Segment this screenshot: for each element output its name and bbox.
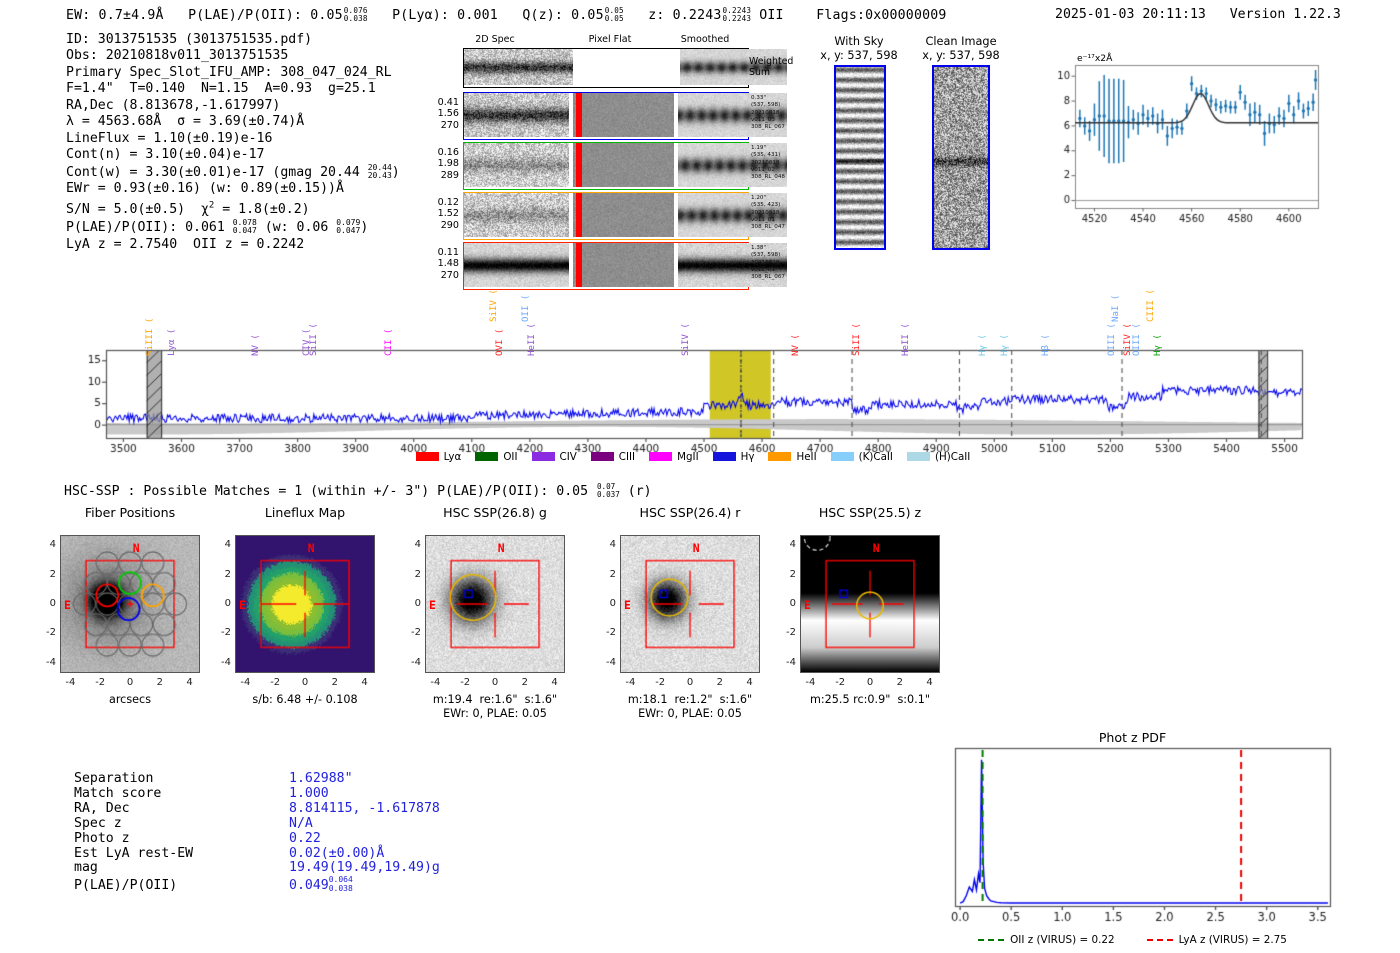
- match-value-1: 1.000: [289, 786, 329, 801]
- panel-xtick: 4: [922, 677, 938, 688]
- panel-image-z[interactable]: [800, 535, 940, 673]
- legend-label-0: Lyα: [444, 451, 462, 463]
- legend-item-1: OII: [475, 451, 517, 463]
- photz-legend: OII z (VIRUS) = 0.22LyA z (VIRUS) = 2.75: [925, 926, 1340, 946]
- legend-item-0: Lyα: [416, 451, 462, 463]
- header-z-value: 0.2243: [673, 8, 722, 23]
- flat-redbar-1: [576, 143, 582, 187]
- compass-north-label: N: [133, 541, 140, 555]
- emission-line-label-12: SiII (: [852, 323, 862, 356]
- panel-image-r[interactable]: [620, 535, 760, 673]
- info-plae-bounds: 0.0780.047: [233, 219, 257, 236]
- compass-east-label: E: [804, 598, 811, 612]
- info-id: ID: 3013751535 (3013751535.pdf): [66, 32, 312, 47]
- info-plae: P(LAE)/P(OII): 0.061 0.0780.047 (w: 0.06…: [66, 220, 368, 235]
- spectrum-legend: LyαOIICIVCIIIMgIIHγHeII(K)CaII(H)CaII: [0, 446, 1400, 465]
- panel-xlabel: arcsecs: [60, 693, 200, 707]
- emission-line-label-18: NaI (: [1111, 295, 1121, 322]
- panel-xtick: -2: [457, 677, 473, 688]
- photz-legend-item-1: LyA z (VIRUS) = 2.75: [1147, 934, 1287, 946]
- legend-label-1: OII: [503, 451, 517, 463]
- spec2d-montage: 2D Spec Pixel Flat Smoothed Weighted Sum…: [425, 34, 785, 259]
- panel-ytick: -4: [778, 657, 796, 668]
- legend-item-6: HeII: [768, 451, 816, 463]
- header-qz-value: 0.05: [571, 8, 604, 23]
- match-properties-table: Separation1.62988"Match score1.000RA, De…: [74, 772, 440, 893]
- info-redshifts: LyA z = 2.7540 OII z = 0.2242: [66, 237, 304, 252]
- match-key-6: mag: [74, 861, 289, 876]
- legend-label-6: HeII: [796, 451, 816, 463]
- emission-line-label-20: OIII (: [1132, 323, 1142, 356]
- header-summary-line: EW: 0.7±4.9Å P(LAE)/P(OII): 0.050.0760.0…: [66, 7, 947, 23]
- legend-label-2: CIV: [560, 451, 577, 463]
- panel-ytick: -4: [403, 657, 421, 668]
- legend-swatch-1: [475, 452, 498, 461]
- panel-image-fibers[interactable]: [60, 535, 200, 673]
- panel-stats-line1: m:18.1 re:1.2" s:1.6": [602, 693, 778, 707]
- photz-legend-label-0: OII z (VIRUS) = 0.22: [1010, 934, 1115, 946]
- imaging-panels-row: Fiber Positions-4-4-2-2002244arcsecsNELi…: [0, 505, 1400, 730]
- info-lineflux: LineFlux = 1.10(±0.19)e-16: [66, 131, 272, 146]
- stripe-meta-1: 1.19" (535, 431) 20210818 v011_02 308_RL…: [751, 145, 785, 181]
- header-qz-label: Q(z):: [522, 8, 563, 23]
- header-plae-value: 0.05: [310, 8, 343, 23]
- legend-label-5: Hγ: [741, 451, 755, 463]
- panel-xtick: 4: [742, 677, 758, 688]
- legend-swatch-8: [907, 452, 930, 461]
- panel-ytick: 4: [38, 539, 56, 550]
- panel-xtick: 0: [487, 677, 503, 688]
- photz-legend-swatch-1: [1147, 939, 1173, 941]
- detection-info-block: ID: 3013751535 (3013751535.pdf) Obs: 202…: [66, 32, 400, 253]
- col-title-smoothed: Smoothed: [650, 34, 760, 45]
- legend-swatch-7: [831, 452, 854, 461]
- full-spectrum-panel: SiIII (Lyα (NV (SiII (CIV (CII (OVI (SiI…: [0, 268, 1400, 468]
- match-key-4: Photo z: [74, 832, 289, 847]
- line-fit-chart: e⁻¹⁷x2Å: [1035, 40, 1325, 255]
- panel-ytick: -4: [38, 657, 56, 668]
- header-datetime: 2025-01-03 20:11:13: [1055, 7, 1206, 22]
- info-plae-w-bounds: 0.0790.047: [336, 219, 360, 236]
- panel-image-g[interactable]: [425, 535, 565, 673]
- match-row-6: mag19.49(19.49,19.49)g: [74, 861, 440, 876]
- emission-line-label-6: OVI (: [495, 329, 505, 356]
- panel-ytick: 2: [213, 569, 231, 580]
- emission-line-label-5: CII (: [384, 329, 394, 356]
- weighted-sum-row: [463, 48, 749, 88]
- spec2d-stripe-0: [463, 92, 749, 140]
- legend-item-2: CIV: [532, 451, 577, 463]
- emission-line-label-1: Lyα (: [167, 329, 177, 356]
- panel-ytick: -2: [403, 627, 421, 638]
- photz-legend-item-0: OII z (VIRUS) = 0.22: [978, 934, 1115, 946]
- emission-line-label-7: SiIV (: [489, 289, 499, 322]
- panel-ytick: -4: [598, 657, 616, 668]
- match-key-2: RA, Dec: [74, 802, 289, 817]
- header-version: Version 1.22.3: [1230, 7, 1341, 22]
- panel-xtick: 2: [327, 677, 343, 688]
- panel-title-fibers: Fiber Positions: [46, 505, 214, 520]
- panel-ytick: 0: [38, 598, 56, 609]
- panel-ytick: 0: [213, 598, 231, 609]
- photz-legend-swatch-0: [978, 939, 1004, 941]
- emission-line-label-11: NV (: [791, 334, 801, 356]
- emission-line-label-10: SiIV (: [681, 323, 691, 356]
- match-row-1: Match score1.000: [74, 787, 440, 802]
- panel-xtick: -2: [652, 677, 668, 688]
- legend-label-3: CIII: [619, 451, 635, 463]
- compass-east-label: E: [624, 598, 631, 612]
- panel-ytick: 2: [778, 569, 796, 580]
- with-sky-image: [834, 65, 886, 250]
- header-plya: P(Lyα): 0.001: [392, 8, 498, 23]
- stripe-values-0: 0.41 1.56 270: [423, 97, 459, 131]
- match-value-5: 0.02(±0.00)Å: [289, 846, 384, 861]
- panel-xtick: 0: [122, 677, 138, 688]
- panel-ytick: -4: [213, 657, 231, 668]
- info-obs: Obs: 20210818v011_3013751535: [66, 48, 288, 63]
- legend-item-5: Hγ: [713, 451, 755, 463]
- match-row-5: Est LyA rest-EW0.02(±0.00)Å: [74, 847, 440, 862]
- emission-line-label-8: OII (: [521, 295, 531, 322]
- panel-ytick: -2: [213, 627, 231, 638]
- panel-title-z: HSC SSP(25.5) z: [786, 505, 954, 520]
- hscssp-header: HSC-SSP : Possible Matches = 1 (within +…: [64, 483, 652, 499]
- panel-xtick: 0: [682, 677, 698, 688]
- compass-north-label: N: [498, 541, 505, 555]
- stripe-values-1: 0.16 1.98 289: [423, 147, 459, 181]
- match-row-2: RA, Dec8.814115, -1.617878: [74, 802, 440, 817]
- hscssp-plae-bounds: 0.070.037: [597, 483, 620, 499]
- panel-ytick: 4: [403, 539, 421, 550]
- info-ewr: EWr = 0.93(±0.16) (w: 0.89(±0.15))Å: [66, 181, 344, 196]
- match-value-7: 0.0490.0640.038: [289, 878, 353, 893]
- linefit-yunit-label: e⁻¹⁷x2Å: [1077, 53, 1112, 64]
- header-plae-label: P(LAE)/P(OII):: [188, 8, 302, 23]
- stripe-meta-2: 1.20" (535, 423) 20210818 v011_01 308_RL…: [751, 195, 785, 231]
- panel-xtick: -4: [427, 677, 443, 688]
- info-gmag-bounds: 20.4420.43: [368, 164, 392, 181]
- panel-xtick: -4: [622, 677, 638, 688]
- match-value-0: 1.62988": [289, 771, 353, 786]
- emission-line-label-15: Hγ (: [1000, 334, 1010, 356]
- emission-line-label-16: Hβ (: [1041, 334, 1051, 356]
- emission-line-label-4: CIV (: [302, 329, 312, 356]
- info-cont-w: Cont(w) = 3.30(±0.01)e-17 (gmag 20.44 20…: [66, 165, 400, 180]
- compass-east-label: E: [64, 598, 71, 612]
- legend-swatch-0: [416, 452, 439, 461]
- legend-item-8: (H)CaII: [907, 451, 970, 463]
- weighted-sum-label: Weighted Sum: [749, 56, 793, 78]
- legend-label-4: MgII: [677, 451, 699, 463]
- info-snr: S/N = 5.0(±0.5) χ2 = 1.8(±0.2): [66, 202, 310, 217]
- header-flags: Flags:0x00000009: [816, 8, 946, 23]
- legend-label-8: (H)CaII: [935, 451, 970, 463]
- panel-xtick: -2: [92, 677, 108, 688]
- emission-line-label-22: Hγ (: [1153, 334, 1163, 356]
- panel-ytick: 2: [38, 569, 56, 580]
- match-value-2: 8.814115, -1.617878: [289, 801, 440, 816]
- clean-image: [932, 65, 990, 250]
- panel-xtick: 4: [547, 677, 563, 688]
- match-key-1: Match score: [74, 787, 289, 802]
- panel-ytick: 0: [403, 598, 421, 609]
- info-cont-n: Cont(n) = 3.10(±0.04)e-17: [66, 147, 265, 162]
- panel-stats-line2: EWr: 0, PLAE: 0.05: [407, 707, 583, 721]
- header-z-bounds: 0.22430.2243: [723, 7, 752, 23]
- panel-xtick: -4: [62, 677, 78, 688]
- header-plae-bounds: 0.0760.038: [344, 7, 368, 23]
- legend-swatch-3: [591, 452, 614, 461]
- panel-title-r: HSC SSP(26.4) r: [606, 505, 774, 520]
- panel-stats-line1: m:25.5 rc:0.9" s:0.1": [782, 693, 958, 707]
- legend-item-3: CIII: [591, 451, 635, 463]
- panel-ytick: 4: [598, 539, 616, 550]
- panel-xtick: 2: [712, 677, 728, 688]
- stripe-values-2: 0.12 1.52 290: [423, 197, 459, 231]
- emission-line-label-9: HeII (: [527, 323, 537, 356]
- header-z-type: OII: [759, 8, 783, 23]
- compass-north-label: N: [308, 541, 315, 555]
- match-value-4: 0.22: [289, 831, 321, 846]
- panel-xtick: 0: [297, 677, 313, 688]
- panel-xtick: 2: [152, 677, 168, 688]
- compass-north-label: N: [693, 541, 700, 555]
- match-key-0: Separation: [74, 772, 289, 787]
- match-row-7: P(LAE)/P(OII)0.0490.0640.038: [74, 876, 440, 893]
- legend-swatch-6: [768, 452, 791, 461]
- match-row-3: Spec zN/A: [74, 817, 440, 832]
- match-key-3: Spec z: [74, 817, 289, 832]
- header-z-label: z:: [648, 8, 664, 23]
- panel-xtick: -4: [802, 677, 818, 688]
- compass-east-label: E: [239, 598, 246, 612]
- panel-xtick: -2: [832, 677, 848, 688]
- photz-legend-label-1: LyA z (VIRUS) = 2.75: [1179, 934, 1287, 946]
- panel-ytick: -2: [38, 627, 56, 638]
- emission-line-label-14: Hγ (: [978, 334, 988, 356]
- match-key-5: Est LyA rest-EW: [74, 847, 289, 862]
- panel-ytick: 4: [778, 539, 796, 550]
- match-value-6: 19.49(19.49,19.49)g: [289, 860, 440, 875]
- panel-ytick: -2: [778, 627, 796, 638]
- info-lambda: λ = 4563.68Å σ = 3.69(±0.74)Å: [66, 114, 304, 129]
- panel-xtick: 0: [862, 677, 878, 688]
- panel-xtick: 4: [357, 677, 373, 688]
- col-title-2dspec: 2D Spec: [430, 34, 560, 45]
- panel-stats-line1: s/b: 6.48 +/- 0.108: [217, 693, 393, 707]
- panel-ytick: 2: [598, 569, 616, 580]
- match-key-7: P(LAE)/P(OII): [74, 879, 289, 894]
- photz-title: Phot z PDF: [925, 730, 1340, 745]
- panel-ytick: 0: [598, 598, 616, 609]
- cutout-title-with-sky: With Skyx, y: 537, 598: [805, 35, 913, 62]
- flat-redbar-0: [576, 93, 582, 137]
- panel-title-g: HSC SSP(26.8) g: [411, 505, 579, 520]
- spec2d-stripe-2: [463, 192, 749, 240]
- header-timestamp-version: 2025-01-03 20:11:13 Version 1.22.3: [1055, 7, 1341, 22]
- emission-line-label-13: HeII (: [901, 323, 911, 356]
- panel-xtick: -2: [267, 677, 283, 688]
- legend-swatch-5: [713, 452, 736, 461]
- panel-title-lineflux: Lineflux Map: [221, 505, 389, 520]
- legend-item-7: (K)CaII: [831, 451, 893, 463]
- spec2d-stripe-1: [463, 142, 749, 190]
- match-row-4: Photo z0.22: [74, 832, 440, 847]
- panel-ytick: -2: [598, 627, 616, 638]
- emission-line-label-17: OIII (: [1107, 323, 1117, 356]
- legend-item-4: MgII: [649, 451, 699, 463]
- emission-line-label-0: SiIII (: [145, 318, 155, 356]
- flat-redbar-2: [576, 193, 582, 237]
- panel-xtick: 4: [182, 677, 198, 688]
- legend-swatch-4: [649, 452, 672, 461]
- compass-east-label: E: [429, 598, 436, 612]
- legend-swatch-2: [532, 452, 555, 461]
- match-value-3: N/A: [289, 816, 313, 831]
- panel-xtick: 2: [892, 677, 908, 688]
- panel-xtick: -4: [237, 677, 253, 688]
- panel-ytick: 2: [403, 569, 421, 580]
- panel-stats-line1: m:19.4 re:1.6" s:1.6": [407, 693, 583, 707]
- emission-line-label-2: NV (: [251, 334, 261, 356]
- stripe-meta-0: 0.33" (537, 598) 20210818 v011_03 308_RL…: [751, 95, 785, 131]
- info-radec: RA,Dec (8.813678,-1.617997): [66, 98, 280, 113]
- info-primary-amp: Primary Spec_Slot_IFU_AMP: 308_047_024_R…: [66, 65, 392, 80]
- panel-ytick: 0: [778, 598, 796, 609]
- panel-xtick: 2: [517, 677, 533, 688]
- header-qz-bounds: 0.050.05: [605, 7, 624, 23]
- col-title-pixelflat: Pixel Flat: [560, 34, 660, 45]
- photz-pdf-chart: Phot z PDF OII z (VIRUS) = 0.22LyA z (VI…: [925, 730, 1340, 948]
- cutout-title-clean-image: Clean Imagex, y: 537, 598: [905, 35, 1017, 62]
- match-value-bounds-7: 0.0640.038: [329, 876, 353, 892]
- emission-line-label-21: CIII (: [1146, 289, 1156, 322]
- header-ew: EW: 0.7±4.9Å: [66, 8, 164, 23]
- panel-stats-line2: EWr: 0, PLAE: 0.05: [602, 707, 778, 721]
- legend-label-7: (K)CaII: [859, 451, 893, 463]
- panel-image-lineflux[interactable]: [235, 535, 375, 673]
- compass-north-label: N: [873, 541, 880, 555]
- info-seeing: F=1.4" T=0.140 N=1.15 A=0.93 g=25.1: [66, 81, 376, 96]
- match-row-0: Separation1.62988": [74, 772, 440, 787]
- panel-ytick: 4: [213, 539, 231, 550]
